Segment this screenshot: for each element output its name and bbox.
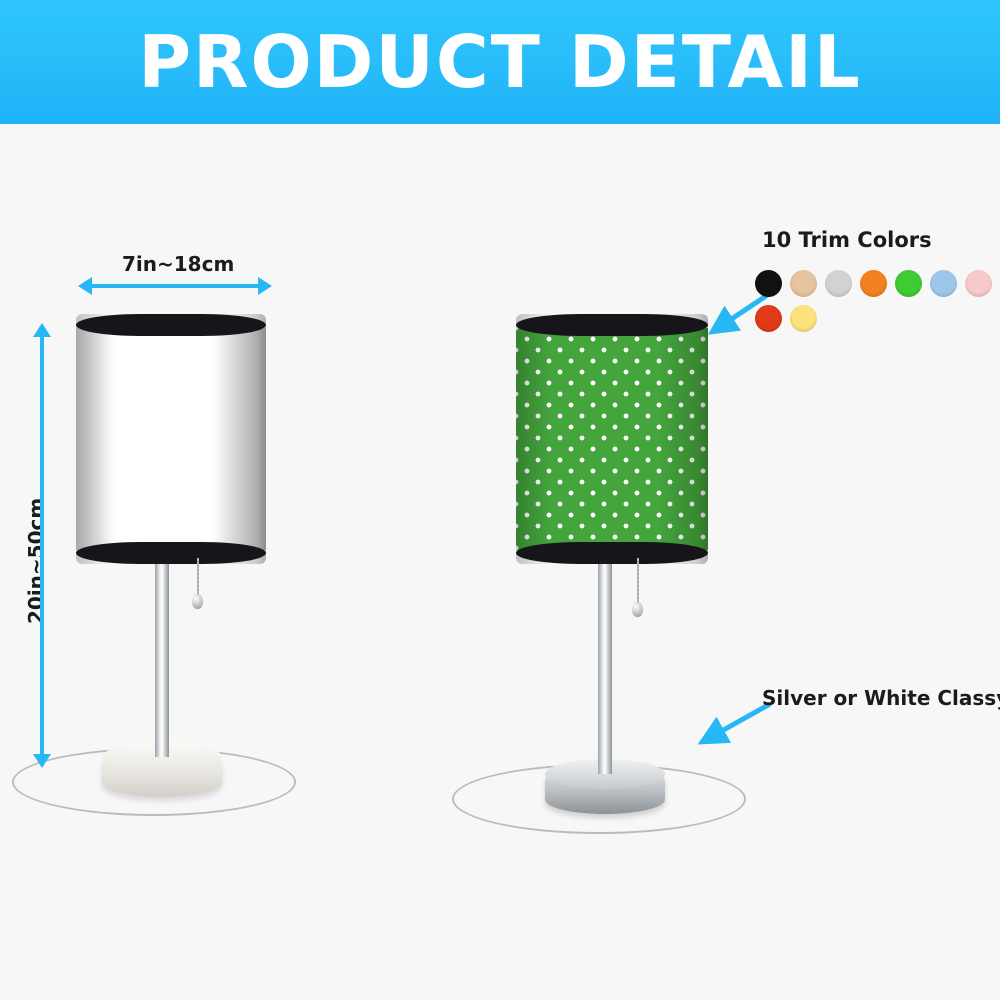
trim-swatch-black[interactable]	[755, 270, 782, 297]
white-lamp-top-trim	[76, 314, 266, 336]
white-lamp-shade	[76, 314, 266, 564]
trim-swatch-tan[interactable]	[790, 270, 817, 297]
green-lamp-pull-chain[interactable]	[637, 558, 639, 608]
trim-colors-label: 10 Trim Colors	[762, 228, 932, 252]
width-arrow-left-icon	[78, 277, 92, 295]
width-dimension-line	[90, 284, 260, 288]
green-lamp-top-trim	[516, 314, 708, 336]
white-lamp-chain-ball[interactable]	[192, 594, 203, 609]
height-dimension-line	[40, 336, 44, 756]
green-lamp-pole	[598, 552, 612, 774]
green-lamp-shade: Your Design +	[516, 314, 708, 564]
green-lamp-bottom-trim	[516, 542, 708, 564]
white-lamp-bottom-trim	[76, 542, 266, 564]
trim-swatch-light-gray[interactable]	[825, 270, 852, 297]
trim-swatch-pink[interactable]	[965, 270, 992, 297]
white-lamp-pole	[155, 552, 169, 757]
height-dimension-label: 20in~50cm	[24, 498, 48, 624]
header-banner: PRODUCT DETAIL	[0, 0, 1000, 124]
trim-color-swatches[interactable]	[755, 270, 995, 332]
trim-swatch-orange[interactable]	[860, 270, 887, 297]
width-dimension-label: 7in~18cm	[122, 252, 234, 276]
height-arrow-down-icon	[33, 754, 51, 768]
width-arrow-right-icon	[258, 277, 272, 295]
trim-swatch-green[interactable]	[895, 270, 922, 297]
trim-swatch-yellow[interactable]	[790, 305, 817, 332]
white-lamp-shade-body	[76, 328, 266, 550]
height-arrow-up-icon	[33, 323, 51, 337]
green-lamp-shade-body	[516, 328, 708, 550]
trim-swatch-red[interactable]	[755, 305, 782, 332]
trim-swatch-light-blue[interactable]	[930, 270, 957, 297]
base-material-label: Silver or White Classy	[762, 686, 1000, 710]
green-lamp-chain-ball[interactable]	[632, 602, 643, 617]
page-title: PRODUCT DETAIL	[138, 26, 862, 98]
product-detail-stage: 7in~18cm 20in~50cm Your Design +	[0, 124, 1000, 1000]
